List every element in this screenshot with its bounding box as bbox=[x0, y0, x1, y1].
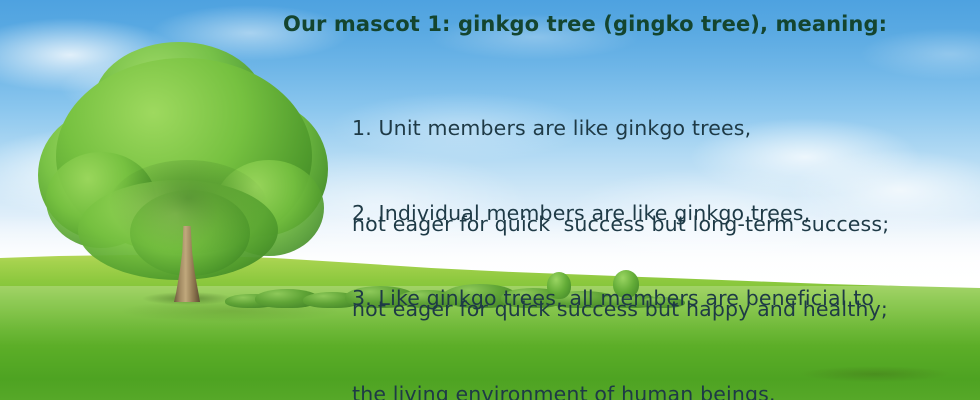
mascot-meaning-item-3-line-2: the living environment of human beings. bbox=[352, 378, 874, 400]
ginkgo-tree-illustration bbox=[38, 40, 328, 302]
mascot-meaning-item-3: 3. Like ginkgo trees, all members are be… bbox=[352, 218, 874, 400]
mascot-meaning-item-3-line-1: 3. Like ginkgo trees, all members are be… bbox=[352, 282, 874, 314]
ginkgo-mascot-banner: Our mascot 1: ginkgo tree (gingko tree),… bbox=[0, 0, 980, 400]
banner-title: Our mascot 1: ginkgo tree (gingko tree),… bbox=[283, 12, 887, 36]
